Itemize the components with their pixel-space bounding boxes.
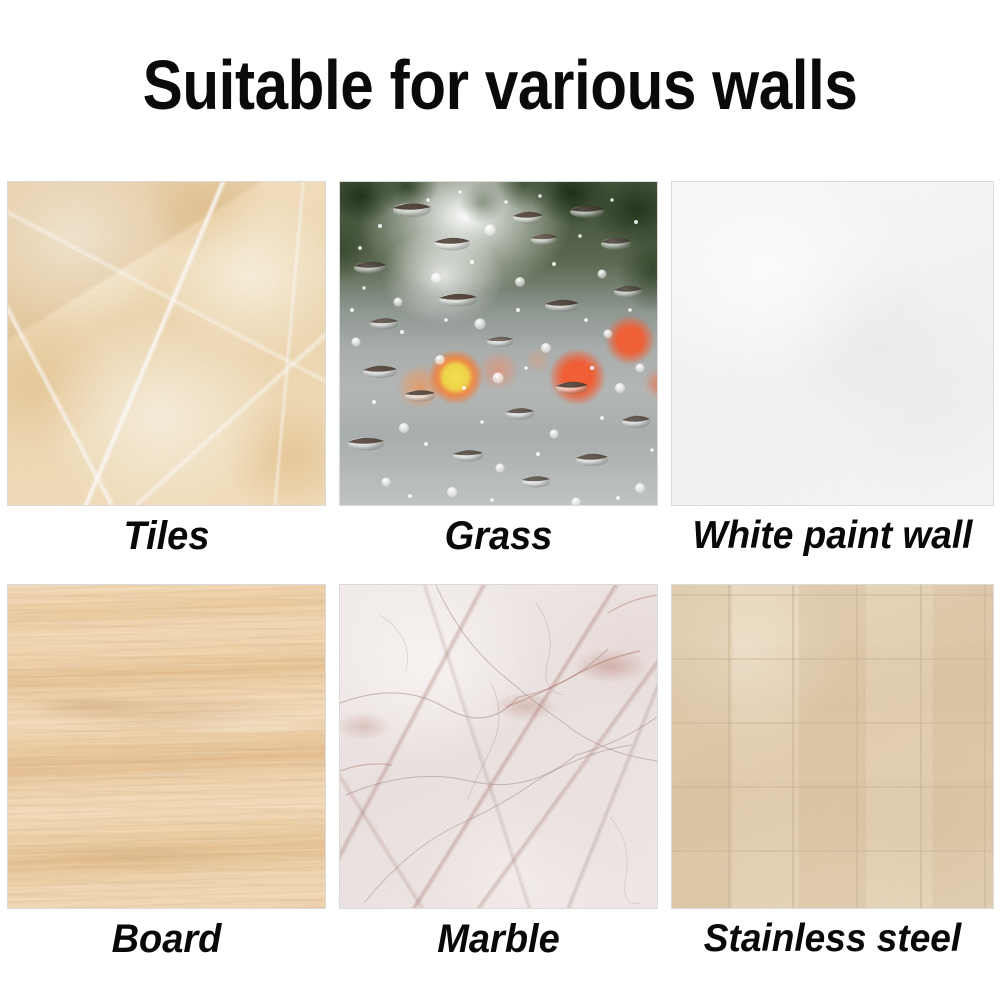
material-label-tiles: Tiles: [16, 511, 317, 561]
material-gallery: Tiles: [8, 182, 994, 988]
material-label-grass: Grass: [348, 511, 649, 561]
material-label-white-paint-wall: White paint wall: [680, 511, 985, 561]
material-swatch-white-paint-wall: [672, 182, 993, 505]
material-swatch-board: [8, 585, 325, 908]
board-figure-texture: [8, 585, 325, 908]
material-label-stainless-steel: Stainless steel: [680, 914, 985, 964]
material-label-board: Board: [16, 914, 317, 964]
material-swatch-grass: [340, 182, 657, 505]
gallery-row: Tiles: [8, 182, 994, 585]
material-card-white-paint-wall[interactable]: White paint wall: [672, 182, 993, 505]
material-card-marble[interactable]: Marble: [340, 585, 657, 908]
material-card-grass[interactable]: Grass: [340, 182, 657, 505]
marble-crack-lines: [340, 585, 657, 908]
page-title: Suitable for various walls: [70, 48, 930, 122]
material-label-marble: Marble: [348, 914, 649, 964]
material-card-stainless-steel[interactable]: Stainless steel: [672, 585, 993, 908]
white-wall-base-texture: [672, 182, 993, 505]
water-droplets-layer: [340, 182, 657, 505]
material-card-tiles[interactable]: Tiles: [8, 182, 325, 505]
steel-grout-lines: [672, 585, 993, 908]
gallery-row: Board: [8, 585, 994, 988]
material-swatch-marble: [340, 585, 657, 908]
material-swatch-tiles: [8, 182, 325, 505]
material-card-board[interactable]: Board: [8, 585, 325, 908]
material-swatch-stainless-steel: [672, 585, 993, 908]
tiles-vein-texture: [8, 182, 325, 505]
